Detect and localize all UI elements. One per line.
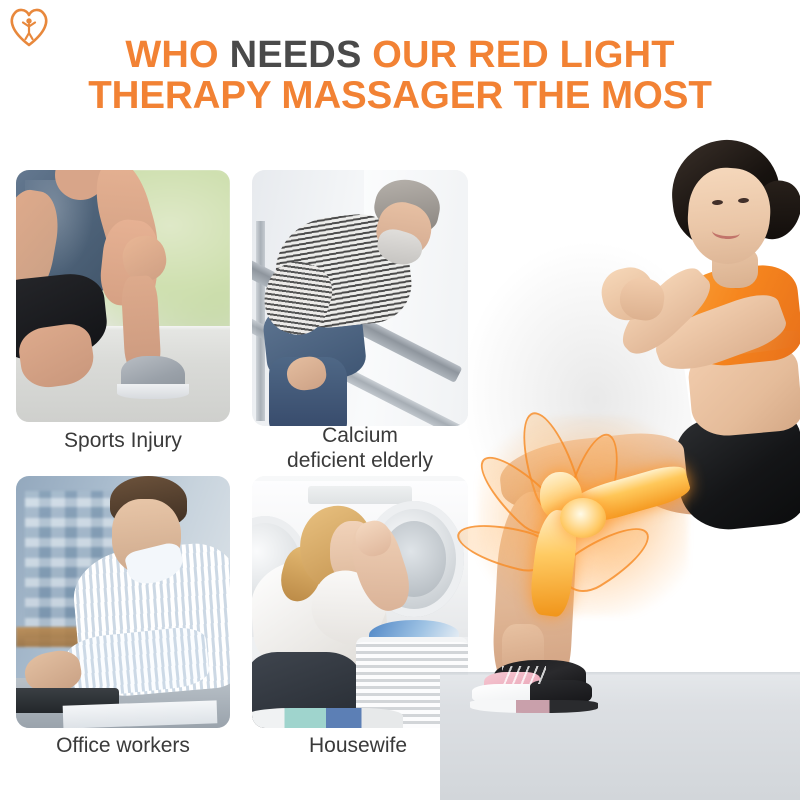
- knee-joint-highlight: [560, 498, 606, 538]
- shoe-laces: [502, 666, 546, 684]
- photo-calcium-deficient-elderly: [252, 170, 468, 426]
- photo-elderly-image: [252, 170, 468, 426]
- photo-sports-injury: [16, 170, 230, 422]
- photo-housewife-image: [252, 476, 468, 728]
- infographic-page: WHO NEEDS OUR RED LIGHT THERAPY MASSAGER…: [0, 0, 800, 800]
- sneaker-sole: [117, 384, 190, 399]
- title-segment-needs: NEEDS: [230, 34, 362, 76]
- face: [685, 165, 773, 266]
- photo-housewife: [252, 476, 468, 728]
- laundry-pile: [252, 708, 403, 728]
- caption-sports-injury: Sports Injury: [16, 428, 230, 453]
- caption-line-1: Calcium: [322, 424, 398, 447]
- hero-model-image: [440, 120, 800, 800]
- pink-white-sneaker: [468, 660, 602, 714]
- caption-housewife: Housewife: [248, 733, 468, 758]
- shoe-sole: [470, 700, 598, 713]
- title-segment-our-red-light: OUR RED LIGHT: [362, 34, 675, 76]
- photo-sports-injury-image: [16, 170, 230, 422]
- photo-office-image: [16, 476, 230, 728]
- caption-office-workers: Office workers: [16, 733, 230, 758]
- caption-line-2: deficient elderly: [287, 449, 433, 472]
- knee-glow-illustration: [468, 402, 698, 632]
- page-title: WHO NEEDS OUR RED LIGHT THERAPY MASSAGER…: [0, 36, 800, 116]
- title-line-two: THERAPY MASSAGER THE MOST: [0, 76, 800, 116]
- photo-office-workers: [16, 476, 230, 728]
- washer-control-panel: [308, 486, 412, 504]
- title-segment-who: WHO: [125, 34, 229, 76]
